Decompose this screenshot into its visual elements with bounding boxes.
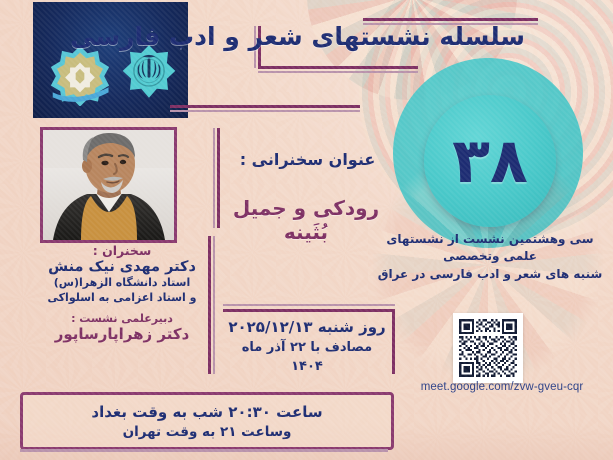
date-frame-top-accent: [223, 304, 395, 306]
subtitle-line-3: شنبه های شعر و ادب فارسی در عراق: [375, 266, 605, 283]
date-frame-top: [223, 309, 395, 312]
event-time-box: ساعت ۲۰:۳۰ شب به وقت بغداد وساعت ۲۱ به و…: [20, 392, 394, 450]
headline-bracket-top: [363, 18, 538, 21]
google-meet-qr-code[interactable]: [457, 317, 519, 379]
body-bracket-top: [170, 105, 360, 108]
speaker-portrait-frame: [40, 127, 177, 243]
saadi-foundation-logo: [49, 44, 111, 106]
secretary-name: دکتر زهراپارساپور: [38, 325, 206, 343]
date-frame-side: [392, 312, 395, 374]
session-number: ۳۸: [452, 130, 528, 192]
logo-panel: [33, 2, 188, 118]
secretary-label: دبیرعلمی نشست :: [38, 312, 206, 325]
qr-code-container[interactable]: [453, 313, 523, 383]
lecture-title: رودکی و جمیل بُثَینه: [211, 196, 401, 244]
headline-bracket-bottom-accent: [258, 71, 418, 73]
time-box-accent: [20, 449, 388, 452]
event-date: روز شنبه ۲۰۲۵/۱۲/۱۳ مصادف با ۲۲ آذر ماه …: [224, 317, 390, 376]
speakers-panel: سخنران : دکتر مهدی نیک منش استاد دانشگاه…: [38, 243, 206, 343]
iran-emblem-logo: [121, 44, 177, 100]
event-poster: سلسله نشستهای شعر و ادب فارسی ۳۸ سی وهشت…: [0, 0, 613, 460]
date-line-2: مصادف با ۲۲ آذر ماه ۱۴۰۴: [224, 339, 390, 377]
speaker-affiliation-2: و استاد اعزامی به اسلواکی: [38, 291, 206, 306]
time-line-tehran: وساعت ۲۱ به وقت تهران: [123, 424, 292, 440]
headline-bracket-bottom: [258, 66, 418, 69]
panel-divider: [208, 236, 211, 374]
lecture-label: عنوان سخنرانی :: [220, 150, 395, 169]
poster-headline: سلسله نشستهای شعر و ادب فارسی: [250, 22, 525, 51]
body-bracket-top-accent: [170, 110, 360, 112]
time-line-baghdad: ساعت ۲۰:۳۰ شب به وقت بغداد: [91, 403, 322, 421]
speaker-name: دکتر مهدی نیک منش: [38, 259, 206, 276]
speakers-label: سخنران :: [38, 243, 206, 258]
subtitle-line-2: علمی وتخصصی: [375, 248, 605, 265]
session-number-badge: ۳۸: [424, 95, 556, 227]
meeting-url[interactable]: meet.google.com/zvw-gveu-cqr: [396, 381, 608, 393]
subtitle-line-1: سی وهشتمین نشست از نشستهای: [375, 231, 605, 248]
date-line-1: روز شنبه ۲۰۲۵/۱۲/۱۳: [224, 317, 390, 339]
speaker-portrait: [43, 130, 174, 240]
session-subtitle: سی وهشتمین نشست از نشستهای علمی وتخصصی ش…: [375, 231, 605, 283]
panel-divider-accent: [213, 236, 215, 374]
speaker-affiliation-1: استاد دانشگاه الزهرا(س): [38, 276, 206, 291]
